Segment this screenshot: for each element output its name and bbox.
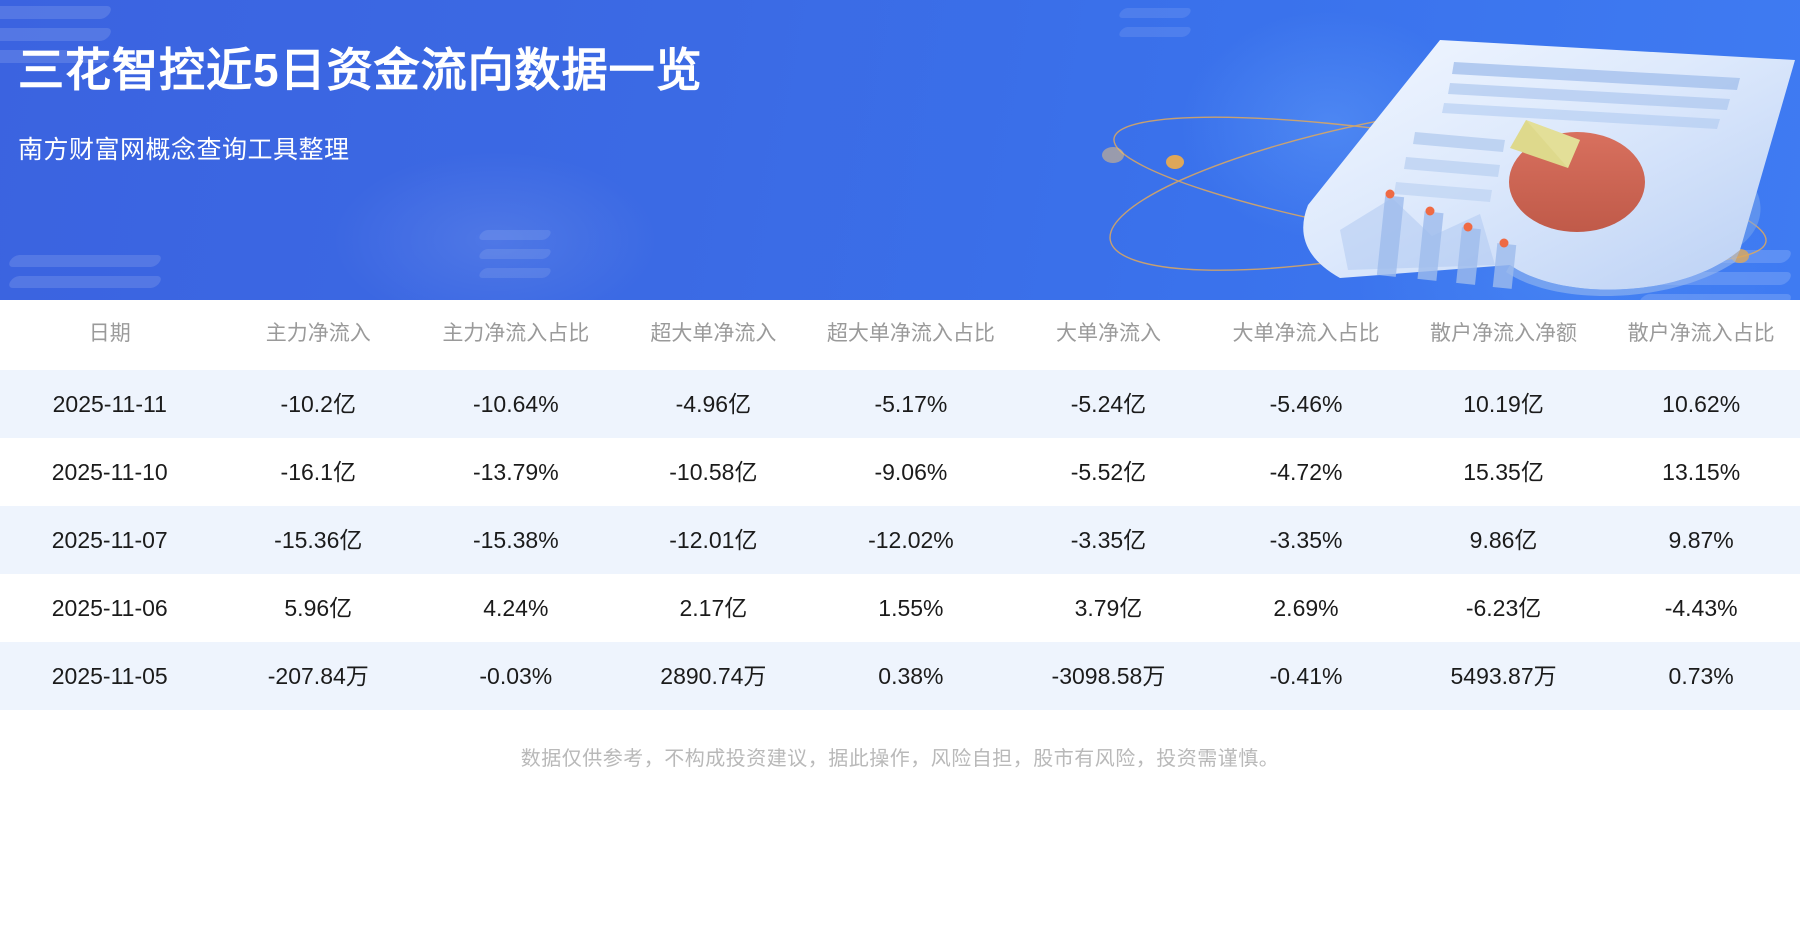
cell-xl-pct: -9.06% <box>812 438 1010 506</box>
column-header-retail-pct: 散户净流入占比 <box>1602 300 1800 370</box>
fund-flow-table-wrap: 南方财富网 Southmoney.com 日期 主力净流入 主力净流入占比 超大… <box>0 300 1800 710</box>
cell-main-pct: -10.64% <box>417 370 615 438</box>
page-banner: 三花智控近5日资金流向数据一览 南方财富网概念查询工具整理 <box>0 0 1800 300</box>
cell-retail-pct: -4.43% <box>1602 574 1800 642</box>
cell-xl-pct: -12.02% <box>812 506 1010 574</box>
page-title: 三花智控近5日资金流向数据一览 <box>18 44 703 97</box>
fund-flow-table: 日期 主力净流入 主力净流入占比 超大单净流入 超大单净流入占比 大单净流入 大… <box>0 300 1800 710</box>
column-header-xl-net: 超大单净流入 <box>615 300 813 370</box>
cell-lg-pct: 2.69% <box>1207 574 1405 642</box>
cell-lg-pct: -3.35% <box>1207 506 1405 574</box>
cell-lg-net: -3098.58万 <box>1010 642 1208 710</box>
report-illustration <box>1040 0 1800 300</box>
cell-main-net: -16.1亿 <box>220 438 418 506</box>
banner-text-block: 三花智控近5日资金流向数据一览 南方财富网概念查询工具整理 <box>18 44 703 166</box>
cell-retail-pct: 0.73% <box>1602 642 1800 710</box>
cell-xl-net: 2.17亿 <box>615 574 813 642</box>
cell-xl-pct: 1.55% <box>812 574 1010 642</box>
cell-date: 2025-11-10 <box>0 438 220 506</box>
cell-main-pct: 4.24% <box>417 574 615 642</box>
cell-date: 2025-11-07 <box>0 506 220 574</box>
table-header: 日期 主力净流入 主力净流入占比 超大单净流入 超大单净流入占比 大单净流入 大… <box>0 300 1800 370</box>
column-header-main-net: 主力净流入 <box>220 300 418 370</box>
column-header-main-pct: 主力净流入占比 <box>417 300 615 370</box>
cell-retail-pct: 10.62% <box>1602 370 1800 438</box>
table-header-row: 日期 主力净流入 主力净流入占比 超大单净流入 超大单净流入占比 大单净流入 大… <box>0 300 1800 370</box>
cell-lg-net: 3.79亿 <box>1010 574 1208 642</box>
cell-main-pct: -0.03% <box>417 642 615 710</box>
cell-retail-pct: 13.15% <box>1602 438 1800 506</box>
cell-lg-net: -5.52亿 <box>1010 438 1208 506</box>
column-header-lg-pct: 大单净流入占比 <box>1207 300 1405 370</box>
table-row: 2025-11-11 -10.2亿 -10.64% -4.96亿 -5.17% … <box>0 370 1800 438</box>
cell-xl-net: -10.58亿 <box>615 438 813 506</box>
column-header-retail-net: 散户净流入净额 <box>1405 300 1603 370</box>
cell-xl-net: -12.01亿 <box>615 506 813 574</box>
cell-lg-pct: -0.41% <box>1207 642 1405 710</box>
table-row: 2025-11-06 5.96亿 4.24% 2.17亿 1.55% 3.79亿… <box>0 574 1800 642</box>
disclaimer-text: 数据仅供参考，不构成投资建议，据此操作，风险自担，股市有风险，投资需谨慎。 <box>0 710 1800 771</box>
column-header-date: 日期 <box>0 300 220 370</box>
page-subtitle: 南方财富网概念查询工具整理 <box>18 130 703 166</box>
banner-blob-left <box>330 150 660 300</box>
cell-date: 2025-11-05 <box>0 642 220 710</box>
cell-xl-pct: 0.38% <box>812 642 1010 710</box>
cell-main-pct: -15.38% <box>417 506 615 574</box>
cell-date: 2025-11-06 <box>0 574 220 642</box>
cell-main-net: -10.2亿 <box>220 370 418 438</box>
table-row: 2025-11-10 -16.1亿 -13.79% -10.58亿 -9.06%… <box>0 438 1800 506</box>
table-body: 2025-11-11 -10.2亿 -10.64% -4.96亿 -5.17% … <box>0 370 1800 710</box>
cell-retail-net: 5493.87万 <box>1405 642 1603 710</box>
cell-xl-pct: -5.17% <box>812 370 1010 438</box>
table-row: 2025-11-07 -15.36亿 -15.38% -12.01亿 -12.0… <box>0 506 1800 574</box>
cell-xl-net: -4.96亿 <box>615 370 813 438</box>
cell-xl-net: 2890.74万 <box>615 642 813 710</box>
cell-retail-net: 15.35亿 <box>1405 438 1603 506</box>
banner-stripes-bottom-left <box>10 255 160 297</box>
cell-main-net: 5.96亿 <box>220 574 418 642</box>
cell-main-pct: -13.79% <box>417 438 615 506</box>
cell-main-net: -15.36亿 <box>220 506 418 574</box>
cell-retail-net: 10.19亿 <box>1405 370 1603 438</box>
cell-lg-pct: -4.72% <box>1207 438 1405 506</box>
cell-lg-net: -3.35亿 <box>1010 506 1208 574</box>
cell-date: 2025-11-11 <box>0 370 220 438</box>
column-header-lg-net: 大单净流入 <box>1010 300 1208 370</box>
cell-retail-net: 9.86亿 <box>1405 506 1603 574</box>
cell-retail-pct: 9.87% <box>1602 506 1800 574</box>
cell-retail-net: -6.23亿 <box>1405 574 1603 642</box>
banner-stripes-middle-left <box>480 230 550 287</box>
cell-lg-pct: -5.46% <box>1207 370 1405 438</box>
table-row: 2025-11-05 -207.84万 -0.03% 2890.74万 0.38… <box>0 642 1800 710</box>
column-header-xl-pct: 超大单净流入占比 <box>812 300 1010 370</box>
cell-lg-net: -5.24亿 <box>1010 370 1208 438</box>
cell-main-net: -207.84万 <box>220 642 418 710</box>
